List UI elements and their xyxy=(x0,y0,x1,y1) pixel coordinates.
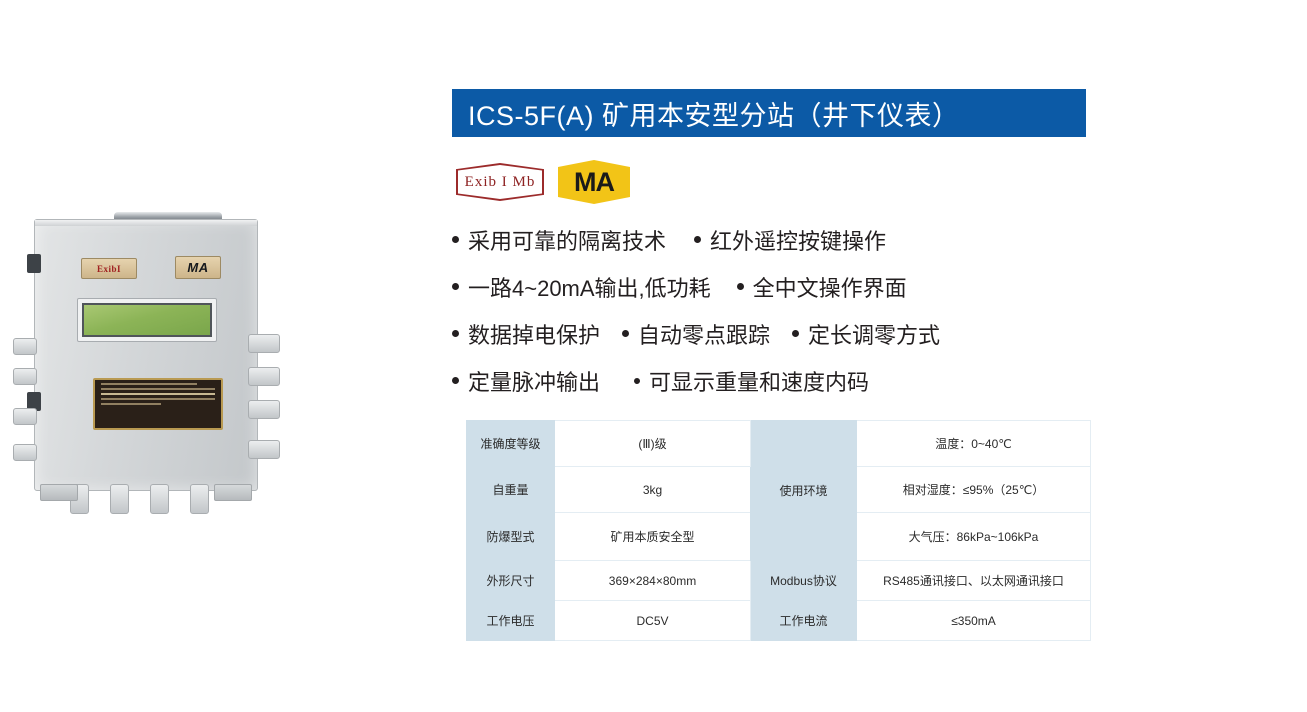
enclosure-lid-edge xyxy=(35,220,257,226)
cable-gland xyxy=(110,484,129,514)
spec-label: 工作电流 xyxy=(751,601,857,641)
cable-gland xyxy=(248,440,280,459)
mounting-foot xyxy=(40,484,78,501)
spec-label-environment: 使用环境 xyxy=(751,421,857,561)
feature-row: 数据掉电保护 自动零点跟踪 定长调零方式 xyxy=(452,310,1092,357)
lcd-screen xyxy=(82,303,212,337)
feature-item: 全中文操作界面 xyxy=(737,271,907,303)
badge-explosion-proof-label: Exib I Mb xyxy=(458,165,542,199)
feature-item: 定量脉冲输出 xyxy=(452,365,600,397)
spec-value: 3kg xyxy=(555,467,751,513)
bullet-icon xyxy=(737,283,744,290)
certification-badges: Exib I Mb MA xyxy=(456,160,630,204)
cable-gland xyxy=(248,400,280,419)
feature-item: 定长调零方式 xyxy=(792,318,940,350)
cable-gland xyxy=(13,368,37,385)
table-row: 准确度等级 (Ⅲ)级 使用环境 温度：0~40℃ xyxy=(467,421,1091,467)
spec-value: ≤350mA xyxy=(857,601,1091,641)
mounting-foot xyxy=(214,484,252,501)
product-plate-exib: ExibI xyxy=(81,258,137,279)
cable-gland xyxy=(150,484,169,514)
cable-gland xyxy=(13,444,37,461)
spec-value: 相对湿度：≤95%（25℃） xyxy=(857,467,1091,513)
cable-gland xyxy=(248,367,280,386)
spec-value: 温度：0~40℃ xyxy=(857,421,1091,467)
feature-label: 采用可靠的隔离技术 xyxy=(468,224,666,256)
badge-explosion-proof-rating: Exib I Mb xyxy=(456,163,544,201)
cable-gland xyxy=(248,334,280,353)
nameplate-line xyxy=(101,403,161,405)
feature-item: 红外遥控按键操作 xyxy=(694,224,886,256)
feature-label: 一路4~20mA输出,低功耗 xyxy=(468,271,711,303)
spec-label: Modbus协议 xyxy=(751,561,857,601)
spec-label: 外形尺寸 xyxy=(467,561,555,601)
feature-item: 可显示重量和速度内码 xyxy=(634,365,869,397)
feature-label: 自动零点跟踪 xyxy=(638,318,770,350)
cable-gland xyxy=(190,484,209,514)
feature-label: 数据掉电保护 xyxy=(468,318,600,350)
bullet-icon xyxy=(634,378,640,384)
spec-value: RS485通讯接口、以太网通讯接口 xyxy=(857,561,1091,601)
table-row: 外形尺寸 369×284×80mm Modbus协议 RS485通讯接口、以太网… xyxy=(467,561,1091,601)
bullet-icon xyxy=(622,330,629,337)
feature-item: 自动零点跟踪 xyxy=(622,318,770,350)
spec-label: 工作电压 xyxy=(467,601,555,641)
feature-list: 采用可靠的隔离技术 红外遥控按键操作 一路4~20mA输出,低功耗 全中文操作界… xyxy=(452,216,1092,404)
table-row: 工作电压 DC5V 工作电流 ≤350mA xyxy=(467,601,1091,641)
feature-item: 数据掉电保护 xyxy=(452,318,600,350)
feature-row: 定量脉冲输出 可显示重量和速度内码 xyxy=(452,357,1092,404)
product-plate-ma: MA xyxy=(175,256,221,279)
feature-label: 定量脉冲输出 xyxy=(468,365,600,397)
lcd-display-bezel xyxy=(77,298,217,342)
bullet-icon xyxy=(452,330,459,337)
spec-label: 防爆型式 xyxy=(467,513,555,561)
bullet-icon xyxy=(452,377,459,384)
feature-row: 一路4~20mA输出,低功耗 全中文操作界面 xyxy=(452,263,1092,310)
spec-label: 准确度等级 xyxy=(467,421,555,467)
feature-label: 全中文操作界面 xyxy=(753,271,907,303)
spec-value: 矿用本质安全型 xyxy=(555,513,751,561)
product-nameplate xyxy=(93,378,223,430)
spec-value: 大气压：86kPa~106kPa xyxy=(857,513,1091,561)
spec-value: DC5V xyxy=(555,601,751,641)
badge-mining-approval: MA xyxy=(558,160,630,204)
enclosure-body: ExibI MA xyxy=(34,219,258,491)
feature-item: 一路4~20mA输出,低功耗 xyxy=(452,271,711,303)
nameplate-line xyxy=(101,398,215,400)
nameplate-line xyxy=(101,383,197,385)
page-title: ICS-5F(A) 矿用本安型分站（井下仪表） xyxy=(468,94,960,133)
spec-value: 369×284×80mm xyxy=(555,561,751,601)
spec-label: 自重量 xyxy=(467,467,555,513)
specification-table: 准确度等级 (Ⅲ)级 使用环境 温度：0~40℃ 自重量 3kg 相对湿度：≤9… xyxy=(466,420,1091,641)
cable-gland xyxy=(13,408,37,425)
nameplate-line xyxy=(101,393,215,395)
bullet-icon xyxy=(452,236,459,243)
feature-label: 定长调零方式 xyxy=(808,318,940,350)
feature-item: 采用可靠的隔离技术 xyxy=(452,224,666,256)
feature-label: 可显示重量和速度内码 xyxy=(649,365,869,397)
cable-gland xyxy=(13,338,37,355)
feature-label: 红外遥控按键操作 xyxy=(710,224,886,256)
feature-row: 采用可靠的隔离技术 红外遥控按键操作 xyxy=(452,216,1092,263)
spec-value: (Ⅲ)级 xyxy=(555,421,751,467)
nameplate-line xyxy=(101,388,215,390)
page-title-bar: ICS-5F(A) 矿用本安型分站（井下仪表） xyxy=(452,89,1086,137)
bullet-icon xyxy=(694,236,701,243)
bullet-icon xyxy=(792,330,799,337)
product-image: ExibI MA xyxy=(18,212,318,537)
latch-clip xyxy=(27,254,41,273)
bullet-icon xyxy=(452,283,459,290)
